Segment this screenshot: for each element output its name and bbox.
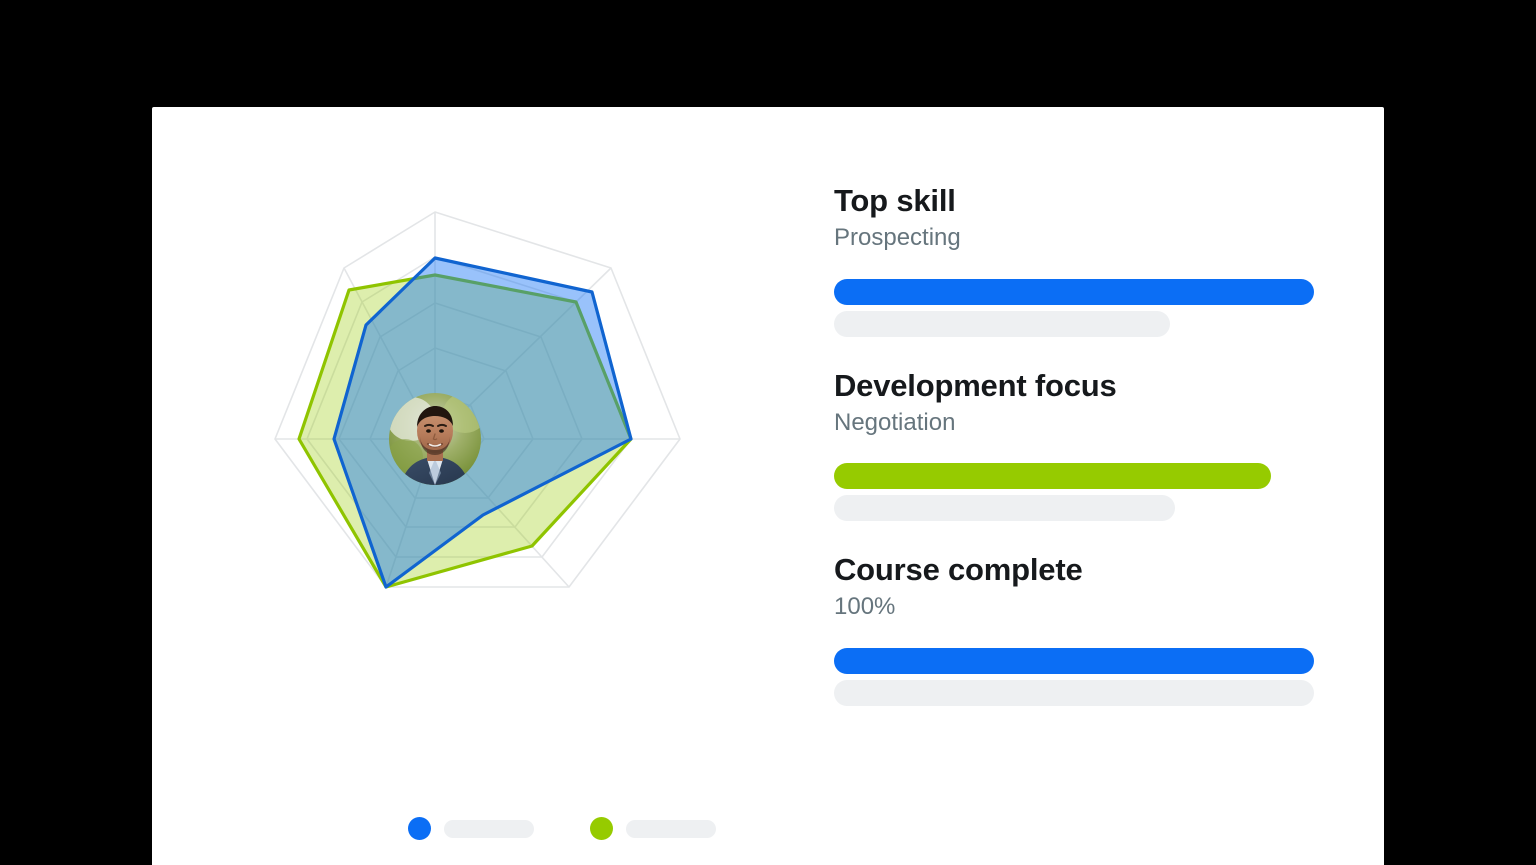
legend-label-placeholder-green — [626, 820, 716, 838]
radar-legend — [408, 817, 716, 840]
progress-bar-track — [834, 311, 1170, 337]
legend-item-green[interactable] — [590, 817, 716, 840]
profile-card: Top skill Prospecting Development focus … — [152, 107, 1384, 865]
stat-subtitle: 100% — [834, 591, 1314, 623]
green-legend-dot — [590, 817, 613, 840]
stat-title: Top skill — [834, 182, 1314, 219]
stat-subtitle: Negotiation — [834, 407, 1314, 439]
progress-bar-primary — [834, 648, 1314, 674]
progress-bar-primary — [834, 463, 1271, 489]
stat-bars — [834, 279, 1314, 337]
stat-block-course-complete: Course complete 100% — [834, 551, 1314, 706]
stat-title: Development focus — [834, 367, 1314, 404]
stat-bars — [834, 463, 1314, 521]
radar-chart[interactable] — [212, 202, 812, 762]
legend-item-blue[interactable] — [408, 817, 534, 840]
stat-title: Course complete — [834, 551, 1314, 588]
screenshot-stage: Top skill Prospecting Development focus … — [0, 0, 1536, 865]
progress-bar-primary — [834, 279, 1314, 305]
progress-bar-track — [834, 495, 1175, 521]
stat-subtitle: Prospecting — [834, 222, 1314, 254]
progress-bar-track — [834, 680, 1314, 706]
stat-block-development-focus: Development focus Negotiation — [834, 367, 1314, 522]
blue-legend-dot — [408, 817, 431, 840]
legend-label-placeholder-blue — [444, 820, 534, 838]
stat-block-top-skill: Top skill Prospecting — [834, 182, 1314, 337]
stat-bars — [834, 648, 1314, 706]
stats-panel: Top skill Prospecting Development focus … — [834, 182, 1314, 706]
radar-chart-panel — [212, 202, 812, 762]
